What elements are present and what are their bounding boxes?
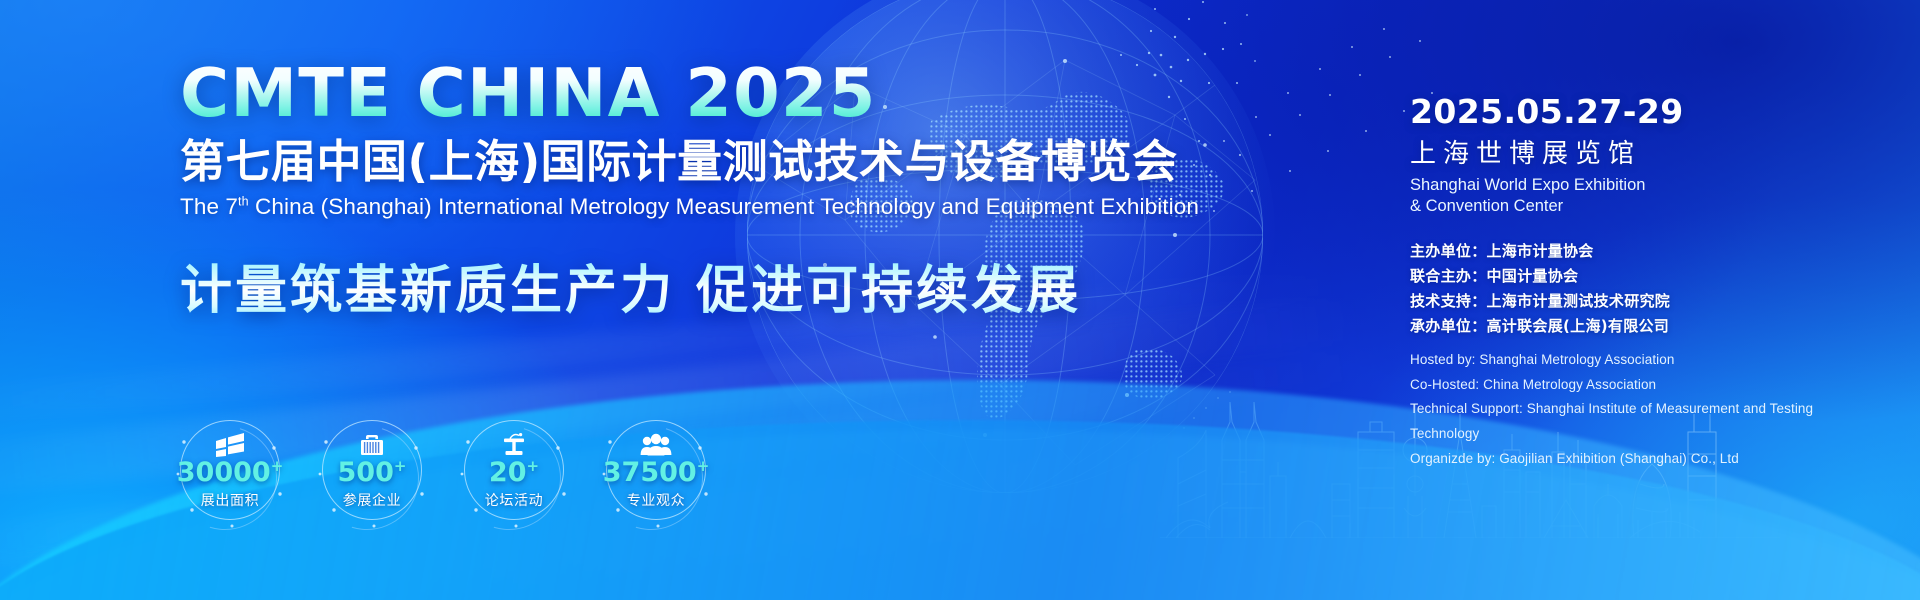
grid-squares-icon [215, 431, 245, 457]
event-info-block: 2025.05.27-29 上海世博展览馆 Shanghai World Exp… [1410, 95, 1880, 472]
venue-en-line-2: & Convention Center [1410, 196, 1880, 218]
stat-number: 30000 [177, 457, 271, 488]
slogan-cn: 计量筑基新质生产力 促进可持续发展 [180, 248, 1330, 323]
stat-content: 500+ 参展企业 [322, 420, 422, 520]
stat-content: 37500+ 专业观众 [606, 420, 706, 520]
exhibition-title-en: The 7th China (Shanghai) International M… [180, 194, 1330, 220]
organizer-en-host: Hosted by: Shanghai Metrology Associatio… [1410, 348, 1880, 373]
podium-icon [501, 431, 527, 457]
stat-plus: + [271, 457, 284, 475]
stat-plus: + [394, 457, 407, 475]
stat-number: 500 [338, 457, 394, 488]
stat-plus: + [527, 457, 540, 475]
stat-badge-exhibitors: 500+ 参展企业 [322, 420, 422, 530]
stat-label: 展出面积 [201, 490, 259, 510]
venue-en-line-1: Shanghai World Expo Exhibition [1410, 175, 1880, 197]
stat-label: 专业观众 [627, 490, 685, 510]
headline-block: CMTE CHINA 2025 第七届中国(上海)国际计量测试技术与设备博览会 … [180, 60, 1330, 323]
title-en-post: China (Shanghai) International Metrology… [249, 194, 1199, 219]
stat-value: 500+ [338, 459, 407, 486]
organizer-cn-organizer: 承办单位：高计联会展(上海)有限公司 [1410, 314, 1880, 339]
stat-label: 论坛活动 [485, 490, 543, 510]
stats-row: 30000+ 展出面积 [180, 420, 706, 530]
stat-number: 20 [489, 457, 527, 488]
exhibition-title-cn: 第七届中国(上海)国际计量测试技术与设备博览会 [180, 138, 1330, 185]
stat-value: 37500+ [603, 459, 710, 486]
organizer-cn-cohost: 联合主办：中国计量协会 [1410, 264, 1880, 289]
organizer-cn-host: 主办单位：上海市计量协会 [1410, 239, 1880, 264]
stat-value: 30000+ [177, 459, 284, 486]
briefcase-icon [359, 431, 385, 457]
stat-content: 30000+ 展出面积 [180, 420, 280, 520]
stat-content: 20+ 论坛活动 [464, 420, 564, 520]
organizer-cn-tech-support: 技术支持：上海市计量测试技术研究院 [1410, 289, 1880, 314]
stat-value: 20+ [489, 459, 539, 486]
organizer-en-tech-support: Technical Support: Shanghai Institute of… [1410, 397, 1880, 447]
exhibition-banner: CMTE CHINA 2025 第七届中国(上海)国际计量测试技术与设备博览会 … [0, 0, 1920, 600]
stat-badge-forums: 20+ 论坛活动 [464, 420, 564, 530]
stat-label: 参展企业 [343, 490, 401, 510]
brand-title: CMTE CHINA 2025 [180, 60, 1330, 127]
event-date: 2025.05.27-29 [1410, 95, 1880, 128]
organizer-en-cohost: Co-Hosted: China Metrology Association [1410, 373, 1880, 398]
stat-number: 37500 [603, 457, 697, 488]
venue-name-en: Shanghai World Expo Exhibition & Convent… [1410, 175, 1880, 219]
organizers-cn-list: 主办单位：上海市计量协会 联合主办：中国计量协会 技术支持：上海市计量测试技术研… [1410, 239, 1880, 339]
title-en-ordinal: th [238, 195, 249, 209]
title-en-pre: The 7 [180, 194, 238, 219]
people-group-icon [640, 431, 672, 457]
stat-badge-exhibition-area: 30000+ 展出面积 [180, 420, 280, 530]
organizers-en-list: Hosted by: Shanghai Metrology Associatio… [1410, 348, 1880, 472]
stat-badge-visitors: 37500+ 专业观众 [606, 420, 706, 530]
organizer-en-organizer: Organizde by: Gaojilian Exhibition (Shan… [1410, 447, 1880, 472]
stat-plus: + [697, 457, 710, 475]
venue-name-cn: 上海世博展览馆 [1410, 140, 1880, 169]
